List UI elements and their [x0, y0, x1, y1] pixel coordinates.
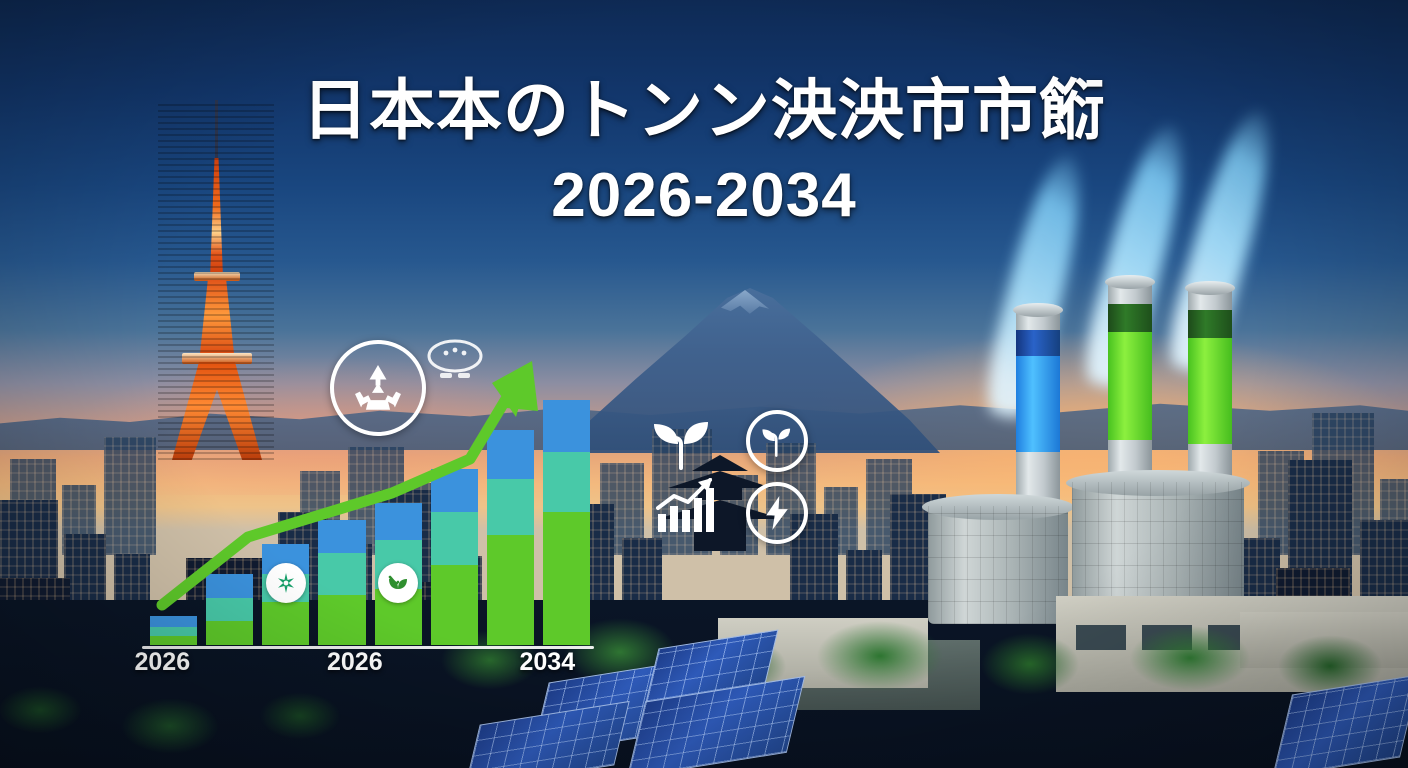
plant-icon — [746, 410, 808, 472]
chart-x-tick-label: 2026 — [135, 648, 191, 677]
sprout-icon — [650, 418, 712, 470]
recycle-glyph — [349, 359, 407, 417]
lightning-bolt-icon — [746, 482, 808, 544]
page-subtitle: 2026-2034 — [0, 160, 1408, 231]
chart-x-tick-label: 2034 — [520, 648, 576, 677]
page-title: 日本本のトンン泱泱市市餰 — [0, 76, 1408, 146]
growth-chart-icon — [654, 478, 716, 534]
chart-x-tick-labels: 202620262034 — [140, 648, 600, 682]
chart-x-tick-label: 2026 — [327, 648, 383, 677]
cloud-sketch-icon — [424, 336, 486, 382]
recycle-icon — [330, 340, 426, 436]
plant-glyph — [761, 425, 793, 457]
bolt-glyph — [764, 496, 790, 530]
poster-canvas: 日本本のトンン泱泱市市餰 2026-2034 202620262034 — [0, 0, 1408, 768]
bar-segment-green — [150, 636, 197, 645]
poster-title-block: 日本本のトンン泱泱市市餰 2026-2034 — [0, 76, 1408, 231]
